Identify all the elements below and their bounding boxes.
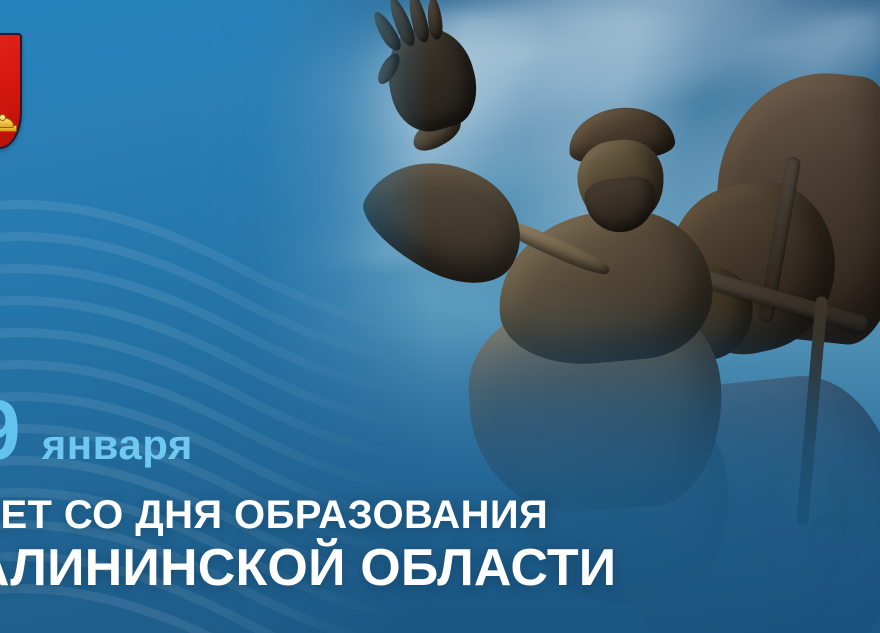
crown-icon [0,119,15,132]
date-month: января [42,424,193,466]
headline-line-2: АЛИНИНСКОЙ ОБЛАСТИ [0,541,616,595]
headline-line-1: ЛЕТ СО ДНЯ ОБРАЗОВАНИЯ [0,495,616,537]
date-day: 9 [0,388,20,472]
commemorative-banner: 9 января ЛЕТ СО ДНЯ ОБРАЗОВАНИЯ АЛИНИНСК… [0,0,880,633]
headline: ЛЕТ СО ДНЯ ОБРАЗОВАНИЯ АЛИНИНСКОЙ ОБЛАСТ… [0,495,616,595]
event-date: 9 января [0,388,193,472]
coat-of-arms [0,33,22,149]
